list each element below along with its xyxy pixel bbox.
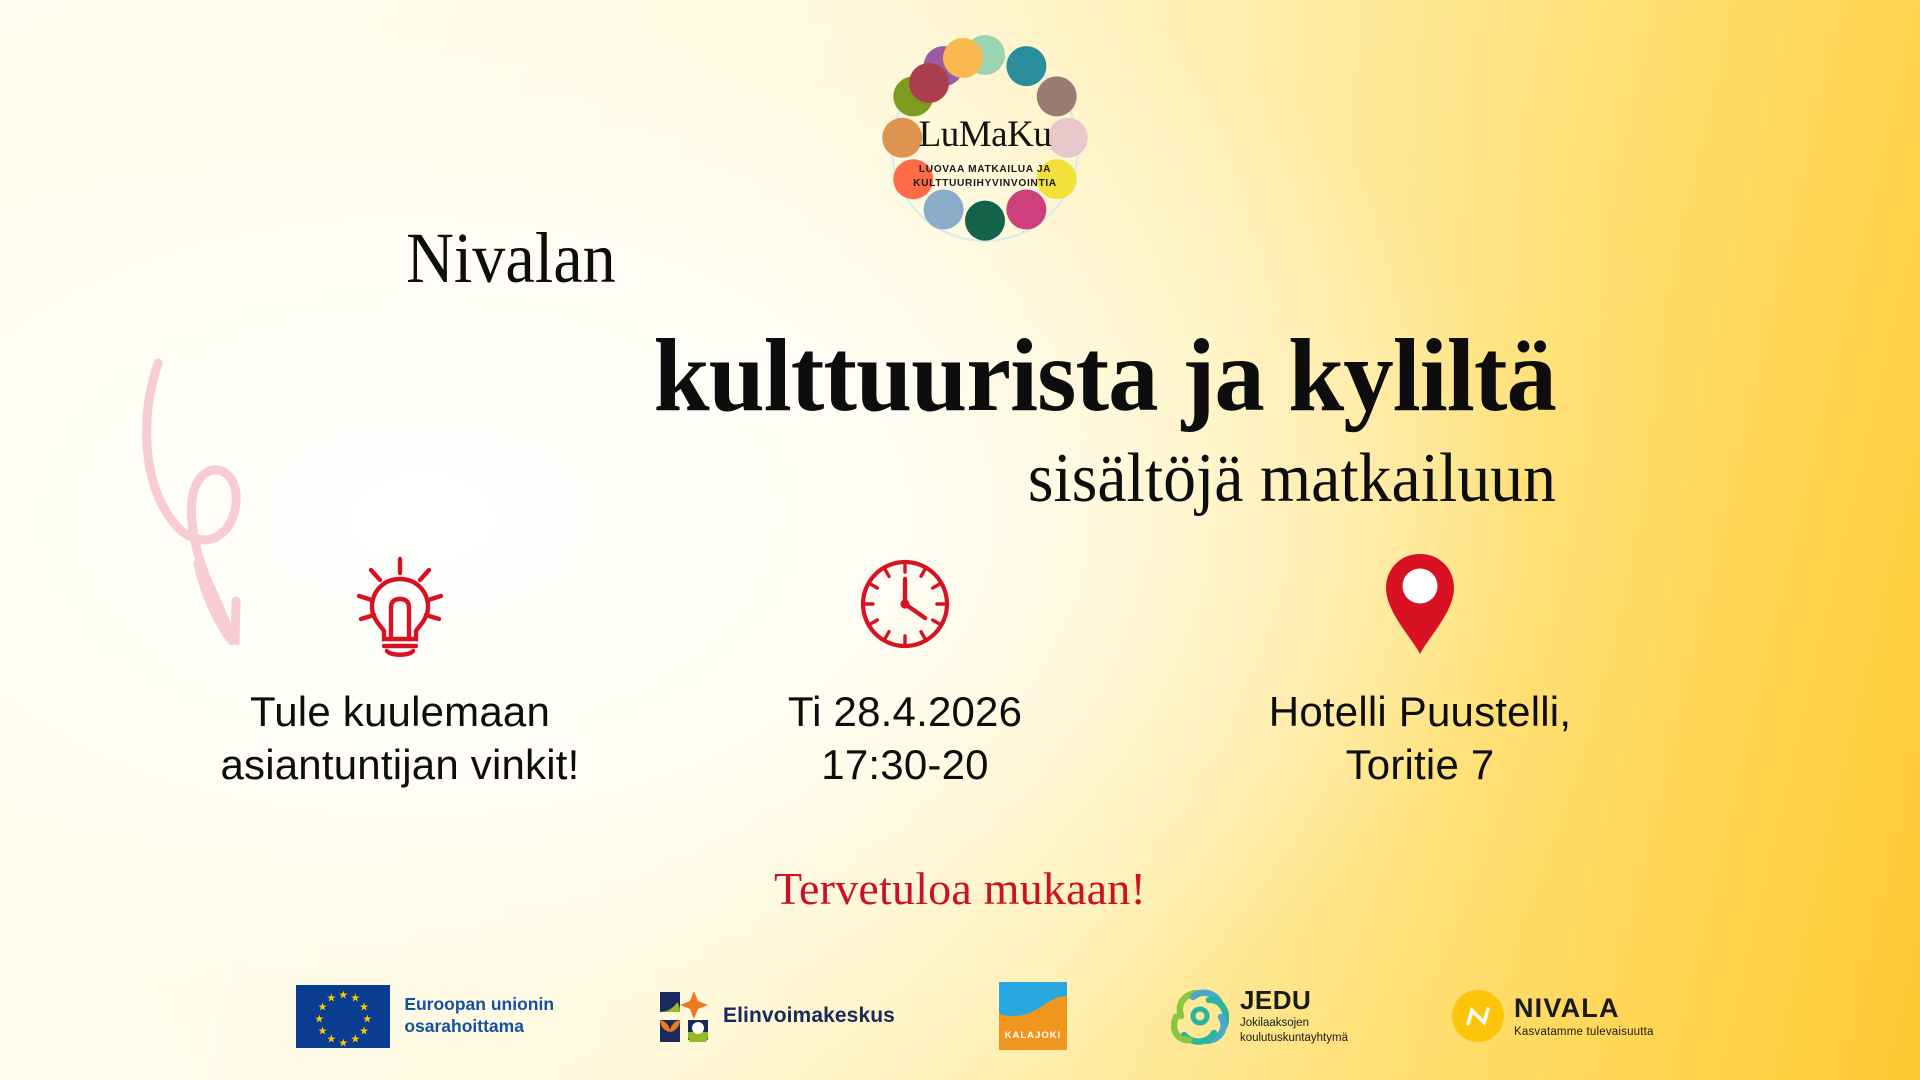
nivala-subtitle: Kasvatamme tulevaisuutta	[1514, 1026, 1654, 1038]
info-column-location: Hotelli Puustelli, Toritie 7	[1140, 548, 1700, 792]
welcome-message: Tervetuloa mukaan!	[0, 862, 1920, 915]
poster-canvas: LuMaKu LUOVAA MATKAILUA JA KULTTUURIHYVI…	[0, 0, 1920, 1080]
logo-wordmark: LuMaKu	[865, 116, 1105, 153]
jedu-title: JEDU	[1240, 987, 1348, 1013]
info-column-tip: Tule kuulemaan asiantuntijan vinkit!	[130, 548, 670, 792]
location-pin-icon	[1382, 548, 1458, 660]
jedu-swirl-icon	[1171, 987, 1229, 1045]
eu-funding-label: Euroopan unionin osarahoittama	[404, 994, 554, 1038]
jedu-subtitle: Jokilaaksojen koulutuskuntayhtymä	[1240, 1016, 1348, 1044]
kalajoki-label: KALAJOKI	[999, 1030, 1067, 1041]
lightbulb-icon	[347, 548, 453, 660]
kalajoki-logo: KALAJOKI	[999, 982, 1067, 1050]
kalajoki-mark-icon: KALAJOKI	[999, 982, 1067, 1050]
info-text-location: Hotelli Puustelli, Toritie 7	[1269, 686, 1571, 792]
elinvoimakeskus-mark-icon	[658, 990, 710, 1042]
elinvoimakeskus-logo: Elinvoimakeskus	[658, 990, 895, 1042]
logo-text-block: LuMaKu LUOVAA MATKAILUA JA KULTTUURIHYVI…	[865, 116, 1105, 191]
info-row: Tule kuulemaan asiantuntijan vinkit!	[130, 548, 1810, 792]
info-text-tip: Tule kuulemaan asiantuntijan vinkit!	[220, 686, 579, 792]
headline-line-3: sisältöjä matkailuun	[93, 442, 1556, 516]
headline-line-1: Nivalan	[124, 222, 1556, 294]
elinvoimakeskus-label: Elinvoimakeskus	[723, 1004, 895, 1028]
eu-funding-logo: ★ ★ ★ ★ ★ ★ ★ ★ ★ ★ ★ ★ Euroopan unionin…	[296, 985, 554, 1048]
nivala-text-block: NIVALA Kasvatamme tulevaisuutta	[1514, 995, 1654, 1038]
jedu-text-block: JEDU Jokilaaksojen koulutuskuntayhtymä	[1240, 987, 1348, 1044]
footer-logo-bar: ★ ★ ★ ★ ★ ★ ★ ★ ★ ★ ★ ★ Euroopan unionin…	[0, 976, 1920, 1056]
nivala-logo: NIVALA Kasvatamme tulevaisuutta	[1452, 990, 1654, 1042]
clock-icon	[855, 548, 955, 660]
info-column-time: Ti 28.4.2026 17:30-20	[670, 548, 1140, 792]
eu-flag-icon: ★ ★ ★ ★ ★ ★ ★ ★ ★ ★ ★ ★	[296, 985, 390, 1048]
headline-line-2: kulttuurista ja kyliltä	[47, 320, 1556, 432]
nivala-title: NIVALA	[1514, 995, 1654, 1022]
info-text-time: Ti 28.4.2026 17:30-20	[788, 686, 1022, 792]
jedu-logo: JEDU Jokilaaksojen koulutuskuntayhtymä	[1171, 987, 1348, 1045]
logo-tagline: LUOVAA MATKAILUA JA KULTTUURIHYVINVOINTI…	[865, 163, 1105, 191]
nivala-mark-icon	[1452, 990, 1504, 1042]
